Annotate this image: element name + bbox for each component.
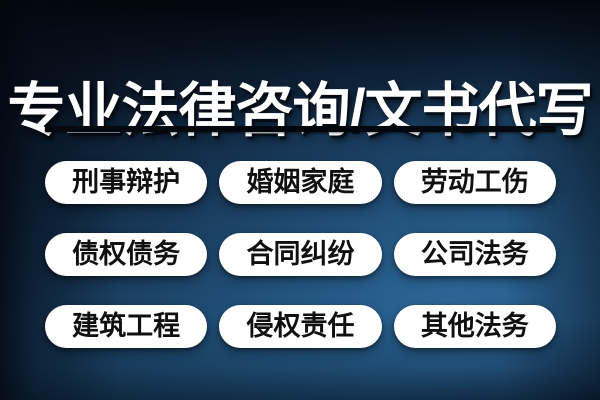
service-pill-corporate-legal[interactable]: 公司法务 — [394, 233, 556, 276]
service-pill-row-1: 刑事辩护 婚姻家庭 劳动工伤 — [45, 161, 556, 204]
service-pill-criminal-defense[interactable]: 刑事辩护 — [45, 161, 207, 204]
service-pill-row-3: 建筑工程 侵权责任 其他法务 — [45, 305, 556, 348]
service-pill-marriage-family[interactable]: 婚姻家庭 — [219, 161, 381, 204]
service-pill-construction-engineering[interactable]: 建筑工程 — [45, 305, 207, 348]
headline-title: 专业法律咨询/文书代写 — [0, 75, 600, 147]
title-divider-rule — [45, 126, 556, 132]
service-pill-other-legal[interactable]: 其他法务 — [394, 305, 556, 348]
service-pill-contract-dispute[interactable]: 合同纠纷 — [219, 233, 381, 276]
service-pill-creditor-debt[interactable]: 债权债务 — [45, 233, 207, 276]
service-pill-tort-liability[interactable]: 侵权责任 — [219, 305, 381, 348]
service-pill-grid: 刑事辩护 婚姻家庭 劳动工伤 债权债务 合同纠纷 公司法务 建筑工程 侵权责任 … — [45, 161, 556, 348]
banner-content: 专业法律咨询/文书代写 刑事辩护 婚姻家庭 劳动工伤 债权债务 合同纠纷 公司法… — [0, 0, 600, 400]
service-pill-row-2: 债权债务 合同纠纷 公司法务 — [45, 233, 556, 276]
legal-services-promo-banner: 专业法律咨询/文书代写 刑事辩护 婚姻家庭 劳动工伤 债权债务 合同纠纷 公司法… — [0, 0, 600, 400]
service-pill-labor-injury[interactable]: 劳动工伤 — [394, 161, 556, 204]
